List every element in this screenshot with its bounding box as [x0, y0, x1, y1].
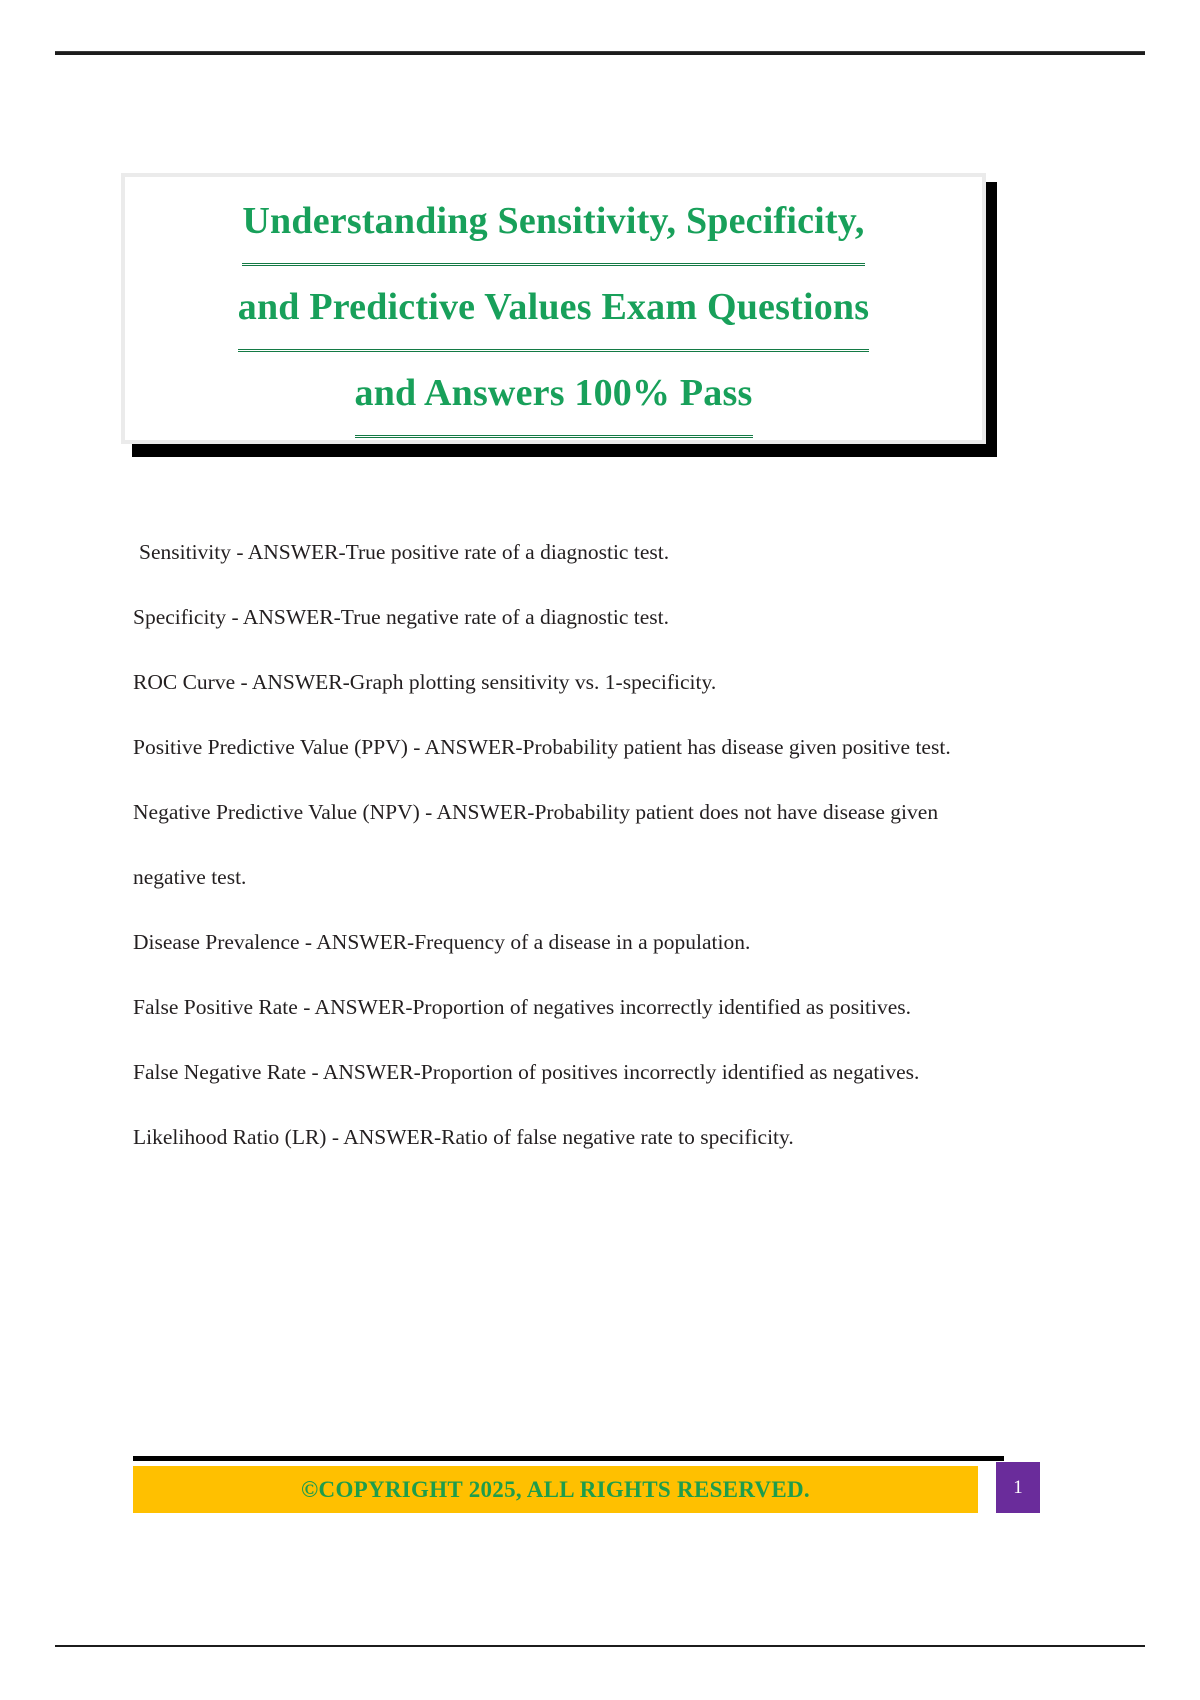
qa-entry: ROC Curve - ANSWER-Graph plotting sensit…	[133, 650, 963, 715]
document-page: Understanding Sensitivity, Specificity, …	[0, 0, 1200, 1700]
document-title-box: Understanding Sensitivity, Specificity, …	[121, 173, 986, 444]
qa-entry: Negative Predictive Value (NPV) - ANSWER…	[133, 780, 963, 910]
page-title-line-3: and Answers 100% Pass	[355, 352, 753, 438]
qa-entry: Sensitivity - ANSWER-True positive rate …	[133, 520, 963, 585]
footer-copyright-band: ©COPYRIGHT 2025, ALL RIGHTS RESERVED.	[133, 1466, 978, 1513]
page-number-label: 1	[1013, 1477, 1023, 1499]
qa-entry: Specificity - ANSWER-True negative rate …	[133, 585, 963, 650]
footer-rule	[55, 1645, 1145, 1647]
qa-entry: Likelihood Ratio (LR) - ANSWER-Ratio of …	[133, 1105, 963, 1170]
copyright-text: ©COPYRIGHT 2025, ALL RIGHTS RESERVED.	[301, 1477, 810, 1503]
qa-entry: Positive Predictive Value (PPV) - ANSWER…	[133, 715, 963, 780]
page-title-line-1: Understanding Sensitivity, Specificity,	[242, 180, 864, 266]
page-number-badge: 1	[996, 1462, 1040, 1513]
header-rule	[55, 51, 1145, 55]
footer-top-rule	[133, 1456, 1004, 1461]
document-body: Sensitivity - ANSWER-True positive rate …	[133, 520, 963, 1170]
qa-entry: False Positive Rate - ANSWER-Proportion …	[133, 975, 963, 1040]
qa-entry: False Negative Rate - ANSWER-Proportion …	[133, 1040, 963, 1105]
page-title-line-2: and Predictive Values Exam Questions	[238, 266, 869, 352]
qa-entry: Disease Prevalence - ANSWER-Frequency of…	[133, 910, 963, 975]
